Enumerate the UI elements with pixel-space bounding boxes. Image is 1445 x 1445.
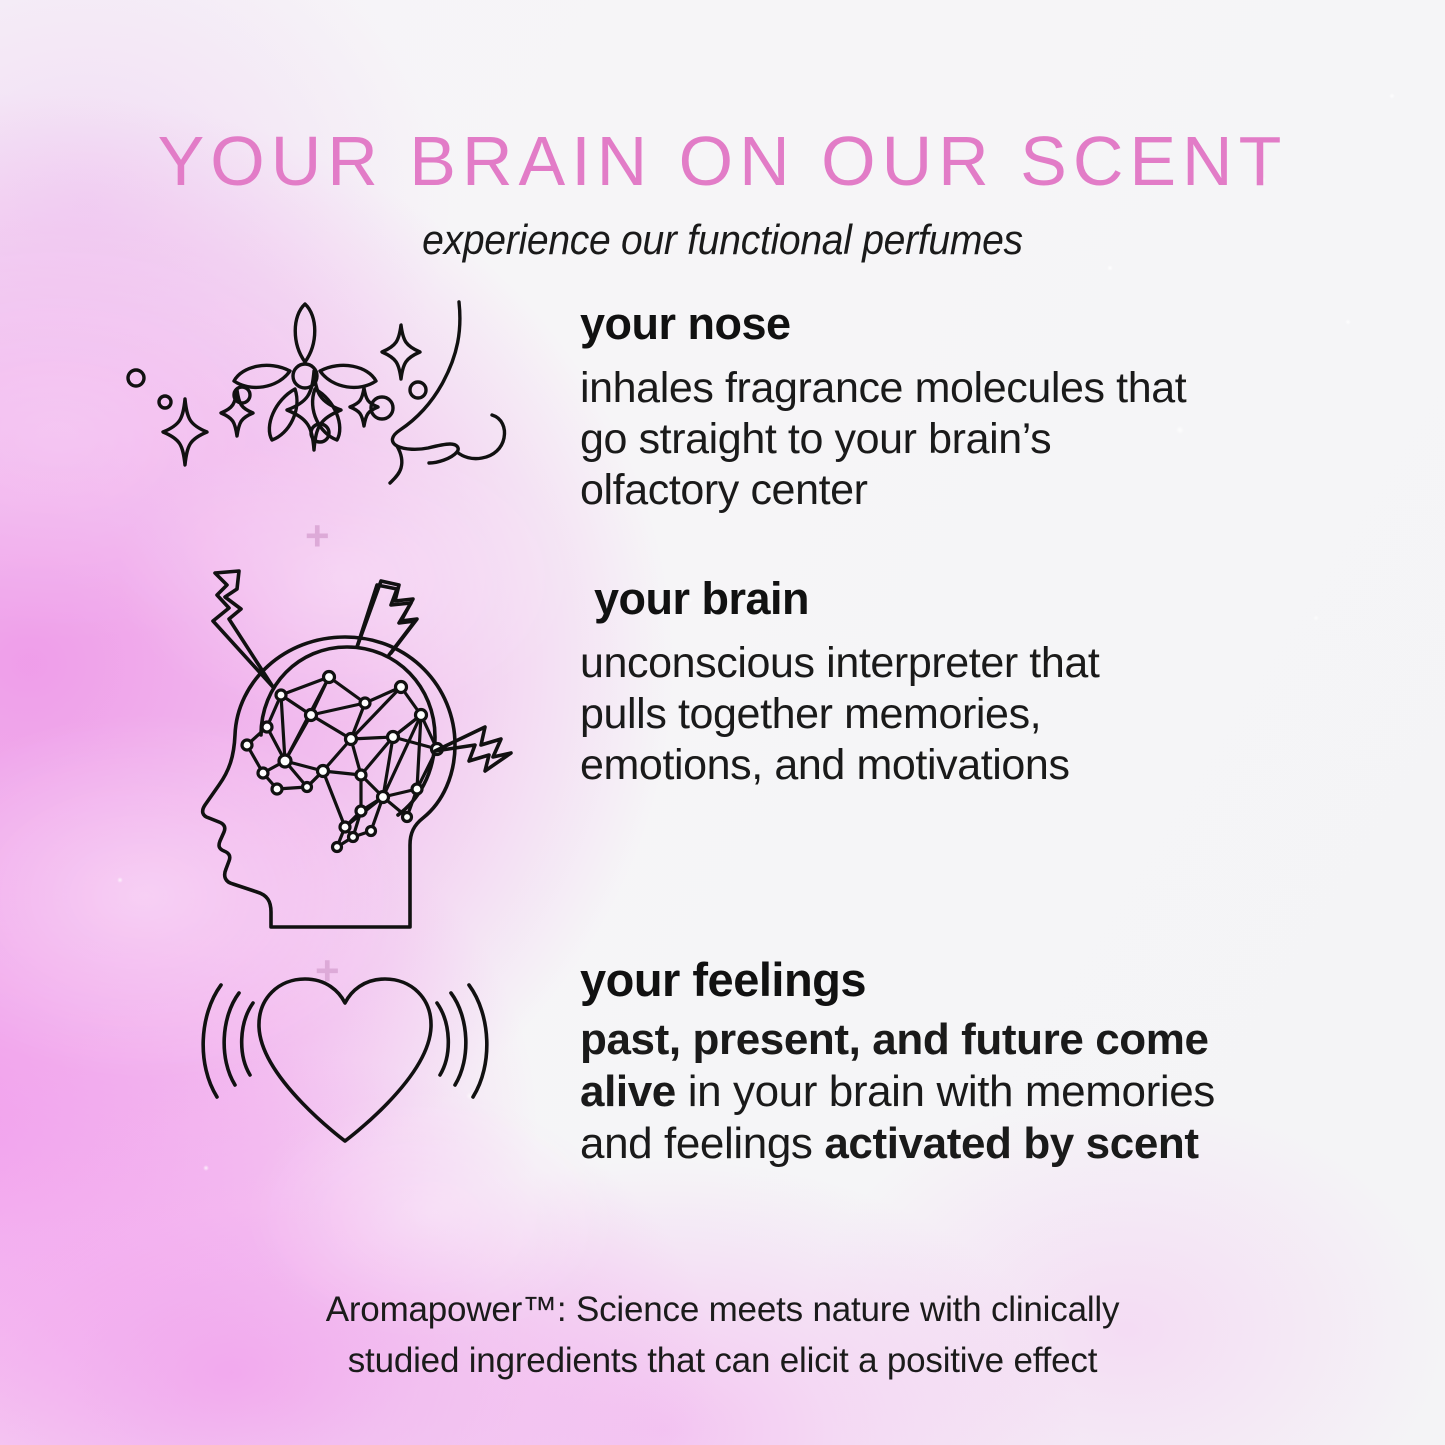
nose-text-cell: your nose inhales fragrance molecules th… [580, 300, 1360, 515]
head-brain-network-icon [185, 575, 505, 930]
nose-body-line-1: inhales fragrance molecules that [580, 363, 1360, 414]
feelings-bold-3: activated by scent [824, 1119, 1198, 1168]
feelings-regular-1: in your brain with memories [676, 1067, 1215, 1116]
brain-body-line-1: unconscious interpreter that [580, 638, 1360, 689]
brain-icon-cell [110, 575, 580, 930]
plus-separator-1: + [305, 515, 330, 557]
nose-body-line-2: go straight to your brain’s [580, 414, 1360, 465]
nose-body-line-3: olfactory center [580, 465, 1360, 516]
poster-header: YOUR BRAIN ON OUR SCENT experience our f… [0, 126, 1445, 264]
step-row-brain: your brain unconscious interpreter that … [110, 575, 1360, 930]
nose-icon-cell [110, 300, 580, 490]
brain-body-line-2: pulls together memories, [580, 689, 1360, 740]
footer-line-2: studied ingredients that can elicit a po… [0, 1336, 1445, 1387]
page-title: YOUR BRAIN ON OUR SCENT [0, 126, 1445, 196]
feelings-body-line-3: and feelings activated by scent [580, 1118, 1360, 1170]
brain-body-line-3: emotions, and motivations [580, 740, 1360, 791]
feelings-bold-2: alive [580, 1067, 676, 1116]
step-body-brain: unconscious interpreter that pulls toget… [580, 638, 1360, 790]
step-body-feelings: past, present, and future come alive in … [580, 1014, 1360, 1170]
page-subtitle: experience our functional perfumes [51, 216, 1395, 264]
brain-text-cell: your brain unconscious interpreter that … [580, 575, 1360, 790]
footer-note: Aromapower™: Science meets nature with c… [0, 1285, 1445, 1387]
feelings-regular-2: and feelings [580, 1119, 824, 1168]
step-heading-feelings: your feelings [580, 955, 1360, 1004]
feelings-bold-1: past, present, and future come [580, 1015, 1209, 1064]
feelings-body-line-1: past, present, and future come [580, 1014, 1360, 1066]
heart-vibration-icon [195, 955, 495, 1155]
step-heading-nose: your nose [580, 300, 1360, 347]
infographic-poster: YOUR BRAIN ON OUR SCENT experience our f… [0, 0, 1445, 1445]
step-row-feelings: your feelings past, present, and future … [110, 955, 1360, 1170]
nose-sparkles-flower-icon [110, 300, 580, 490]
step-heading-brain: your brain [594, 575, 1360, 622]
feelings-body-line-2: alive in your brain with memories [580, 1066, 1360, 1118]
feelings-text-cell: your feelings past, present, and future … [580, 955, 1360, 1170]
footer-line-1: Aromapower™: Science meets nature with c… [0, 1285, 1445, 1336]
step-row-nose: your nose inhales fragrance molecules th… [110, 300, 1360, 515]
feelings-icon-cell [110, 955, 580, 1155]
step-body-nose: inhales fragrance molecules that go stra… [580, 363, 1360, 515]
